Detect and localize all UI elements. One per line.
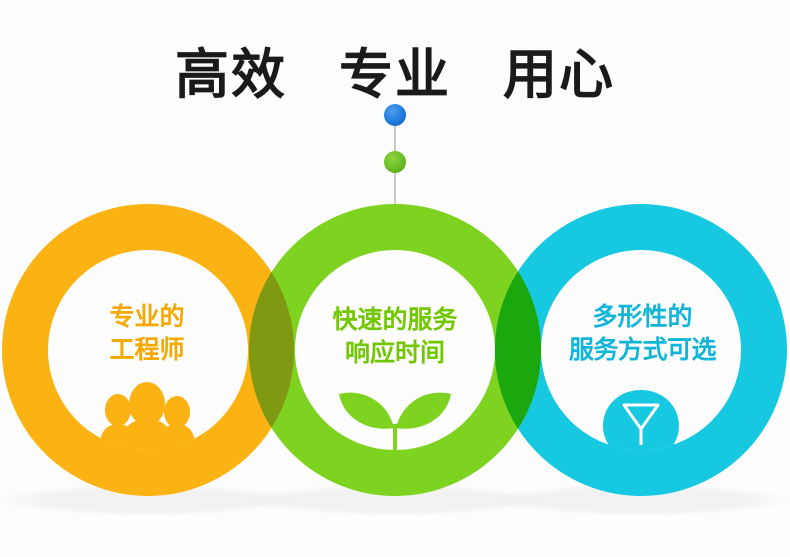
infographic-canvas: 高效专业用心 — [0, 0, 790, 557]
venn-rings-group — [0, 0, 790, 557]
